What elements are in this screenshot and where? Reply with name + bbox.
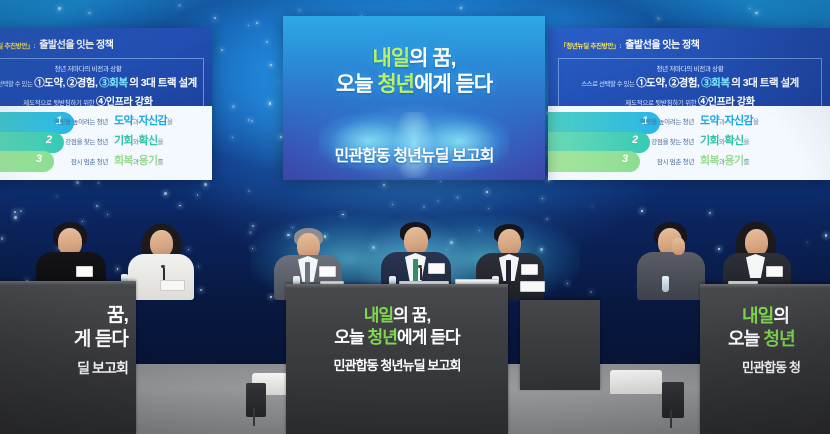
row-who: 잠시 멈춘 청년	[632, 156, 694, 166]
ribbon-num-3: 3	[36, 153, 42, 165]
star-particle	[592, 206, 593, 207]
row-gain: 도약과자신감을	[700, 112, 758, 128]
row-suffix: 을	[753, 119, 758, 126]
slide-track-3: ③회복	[99, 77, 127, 89]
star-particle	[718, 248, 720, 250]
star-particle	[749, 8, 750, 9]
star-particle	[188, 249, 189, 250]
desk-center-line2: 오늘 청년에게 듣다	[286, 328, 508, 348]
star-particle	[590, 291, 592, 293]
slide-screen-center: 내일의 꿈, 오늘 청년에게 듣다 민관합동 청년뉴딜 보고회	[283, 16, 545, 180]
desk-left-line2: 게 듣다	[0, 329, 136, 352]
slide-row: 잠시 멈춘 청년 회복과용기를	[632, 152, 826, 172]
head	[498, 229, 521, 256]
row-gain: 기회와확신을	[114, 132, 163, 148]
star-particle	[96, 205, 98, 207]
star-particle	[755, 12, 758, 15]
name-badge	[428, 263, 445, 274]
star-particle	[232, 137, 233, 138]
name-badge	[521, 264, 538, 275]
desk-right-line2-pre: 오늘	[728, 329, 763, 349]
star-particle	[299, 10, 300, 11]
star-particle	[20, 210, 22, 212]
row-suffix: 를	[157, 159, 162, 166]
star-particle	[423, 206, 425, 208]
star-particle	[658, 18, 659, 19]
row-gain-b: 용기	[724, 155, 743, 167]
torso	[637, 252, 705, 300]
desk-center-line1: 내일의 꿈,	[286, 306, 508, 326]
row-gain: 회복과용기를	[700, 152, 749, 168]
center-screen-title: 내일의 꿈, 오늘 청년에게 듣다	[283, 46, 545, 97]
slide-row: 역량을 높이려는 청년 도약과자신감을	[46, 112, 208, 132]
row-who: 잠시 멈춘 청년	[46, 156, 108, 166]
slide-rows-right: 역량을 높이려는 청년 도약과자신감을 강점을 찾는 청년 기회와확신을 잠시 …	[632, 112, 826, 172]
slide-strategy-box-left: 청년 저마다의 비전과 상황 스스로 선택할 수 있는 ①도약, ②경험, ③회…	[0, 58, 204, 113]
row-gain-a: 도약	[114, 115, 133, 127]
star-particle	[107, 214, 108, 215]
chair-folded	[246, 383, 266, 417]
row-suffix: 를	[743, 159, 748, 166]
microphone-stem	[420, 268, 422, 280]
star-particle	[460, 7, 462, 9]
name-badge	[766, 266, 783, 277]
necktie	[305, 262, 310, 284]
slide-box-line2: 스스로 선택할 수 있는 ①도약, ②경험, ③회복 의 3대 트랙 설계	[561, 75, 819, 90]
desk-panel-left: 꿈, 게 듣다 딜 보고회	[0, 281, 136, 434]
name-badge	[76, 266, 93, 277]
star-particle	[14, 216, 17, 219]
name-card	[160, 280, 185, 291]
desk-right-line1: 내일의	[700, 306, 830, 328]
star-particle	[14, 211, 16, 213]
row-suffix: 을	[157, 139, 162, 146]
star-particle	[486, 191, 487, 192]
slide-row: 강점을 찾는 청년 기회와확신을	[632, 132, 826, 152]
necktie	[413, 259, 418, 283]
water-bottle	[662, 276, 669, 292]
star-particle	[709, 212, 711, 214]
center-title-line2-rest: 에게 듣다	[414, 73, 492, 96]
slide-strategy-box-right: 청년 저마다의 비전과 상황 스스로 선택할 수 있는 ①도약, ②경험, ③회…	[558, 58, 822, 113]
star-particle	[97, 182, 99, 184]
star-particle	[88, 12, 90, 14]
slide-screen-left: 「청년뉴딜 추진방안」: 출발선을 잇는 정책 청년 저마다의 비전과 상황 스…	[0, 28, 212, 180]
head	[404, 227, 428, 255]
slide-header-left: 「청년뉴딜 추진방안」: 출발선을 잇는 정책	[0, 28, 212, 53]
star-particle	[383, 184, 384, 185]
star-particle	[58, 7, 61, 10]
slide-track-2: ②경험,	[67, 77, 98, 89]
star-particle	[270, 64, 273, 67]
slide-box-line2-post: 의 3대 트랙 설계	[129, 77, 197, 89]
row-gain-a: 회복	[114, 155, 133, 167]
slide-track-3: ③회복	[701, 77, 729, 89]
star-particle	[278, 81, 279, 82]
row-gain-a: 기회	[114, 135, 133, 147]
chair-folded	[662, 382, 684, 418]
name-card	[520, 281, 545, 292]
desk-right-line1-rest: 의	[773, 306, 789, 326]
slide-header-tag: 「청년뉴딜 추진방안」:	[0, 40, 35, 50]
row-who: 역량을 높이려는 청년	[632, 116, 694, 126]
desk-center-line1-hl: 내일	[364, 306, 393, 325]
star-particle	[256, 22, 258, 24]
row-gain-b: 확신	[724, 135, 743, 147]
star-particle	[488, 208, 489, 209]
conference-photo: 「청년뉴딜 추진방안」: 출발선을 잇는 정책 청년 저마다의 비전과 상황 스…	[0, 0, 830, 434]
slide-header-tag: 「청년뉴딜 추진방안」:	[560, 40, 621, 50]
row-gain-a: 회복	[700, 155, 719, 167]
slide-white-panel-left: 1 2 3 역량을 높이려는 청년 도약과자신감을 강점을 찾는 청년 기회와확…	[0, 106, 212, 180]
desk-left-line1: 꿈,	[0, 305, 136, 328]
row-gain-b: 자신감	[138, 115, 167, 127]
star-particle	[248, 25, 249, 26]
desk-center-line2-pre: 오늘	[334, 328, 367, 347]
slide-track-1: ①도약,	[636, 77, 667, 89]
center-title-line2: 오늘 청년에게 듣다	[283, 72, 545, 98]
desk-edge	[0, 281, 136, 285]
row-gain-b: 자신감	[724, 115, 753, 127]
star-particle	[251, 120, 253, 122]
chair	[610, 370, 662, 394]
desk-left-sub: 딜 보고회	[0, 360, 136, 377]
desk-center-sub: 민관합동 청년뉴딜 보고회	[286, 358, 508, 374]
slide-white-panel-right: 1 2 3 역량을 높이려는 청년 도약과자신감을 강점을 찾는 청년 기회와확…	[548, 106, 830, 180]
row-gain-b: 용기	[138, 155, 157, 167]
row-gain-b: 확신	[138, 135, 157, 147]
desk-right-line1-hl: 내일	[742, 306, 773, 326]
star-particle	[197, 194, 199, 196]
star-particle	[641, 210, 643, 212]
star-particle	[198, 266, 199, 267]
star-particle	[248, 119, 250, 121]
desk-left-line1-rest: 꿈,	[107, 305, 128, 326]
slide-box-line2-pre: 스스로 선택할 수 있는	[0, 81, 32, 88]
microphone-head	[418, 265, 422, 268]
star-particle	[248, 190, 250, 192]
row-suffix: 을	[743, 139, 748, 146]
desk-center-line2-hl: 청년	[368, 328, 397, 347]
star-particle	[807, 242, 808, 243]
star-particle	[221, 49, 223, 51]
ribbon-num-3: 3	[622, 153, 628, 165]
row-gain: 기회와확신을	[700, 132, 749, 148]
slide-header-title: 출발선을 잇는 정책	[625, 36, 699, 51]
slide-header-right: 「청년뉴딜 추진방안」: 출발선을 잇는 정책	[548, 28, 830, 53]
row-gain: 회복과용기를	[114, 152, 163, 168]
star-particle	[266, 41, 268, 43]
slide-row: 역량을 높이려는 청년 도약과자신감을	[632, 112, 826, 132]
star-particle	[214, 17, 216, 19]
row-gain-a: 도약	[700, 115, 719, 127]
name-badge	[319, 266, 336, 277]
star-particle	[392, 204, 393, 205]
center-title-line1-rest: 의 꿈,	[409, 47, 455, 70]
row-who: 강점을 찾는 청년	[46, 136, 108, 146]
slide-box-line2: 스스로 선택할 수 있는 ①도약, ②경험, ③회복 의 3대 트랙 설계	[0, 75, 201, 90]
chair-leg	[670, 410, 672, 428]
center-title-line2-hl: 청년	[377, 73, 414, 96]
head	[745, 229, 768, 256]
slide-track-2: ②경험,	[669, 77, 700, 89]
desk-panel-right: 내일의 오늘 청년 민관합동 청	[700, 284, 830, 434]
slide-box-line1: 청년 저마다의 비전과 상황	[561, 63, 819, 73]
row-who: 역량을 높이려는 청년	[46, 116, 108, 126]
desk-right-sub: 민관합동 청	[700, 360, 830, 376]
star-particle	[56, 196, 57, 197]
slide-header-title: 출발선을 잇는 정책	[39, 36, 113, 51]
center-title-line2-pre: 오늘	[336, 73, 377, 96]
row-who: 강점을 찾는 청년	[632, 136, 694, 146]
slide-row: 잠시 멈춘 청년 회복과용기를	[46, 152, 208, 172]
slide-box-line2-pre: 스스로 선택할 수 있는	[581, 81, 634, 88]
star-particle	[178, 4, 180, 6]
star-particle	[437, 200, 439, 202]
star-particle	[179, 205, 180, 206]
necktie	[506, 260, 511, 283]
desk-panel-sliver	[520, 300, 600, 390]
microphone-stem	[163, 268, 165, 280]
desk-panel-center: 내일의 꿈, 오늘 청년에게 듣다 민관합동 청년뉴딜 보고회	[286, 284, 508, 434]
star-particle	[164, 192, 167, 195]
head	[150, 230, 173, 257]
torso	[128, 254, 194, 300]
desk-edge	[286, 284, 508, 288]
slide-rows-left: 역량을 높이려는 청년 도약과자신감을 강점을 찾는 청년 기회와확신을 잠시 …	[46, 112, 208, 172]
star-particle	[82, 221, 83, 222]
desk-right-line2: 오늘 청년	[700, 329, 830, 351]
hand	[672, 238, 685, 255]
star-particle	[269, 102, 272, 105]
star-particle	[200, 289, 202, 291]
row-gain-a: 기회	[700, 135, 719, 147]
row-gain: 도약과자신감을	[114, 112, 172, 128]
slide-box-line1: 청년 저마다의 비전과 상황	[0, 63, 201, 73]
desk-center-line1-rest: 의 꿈,	[393, 306, 430, 325]
desk-edge	[700, 284, 830, 288]
center-title-line1: 내일의 꿈,	[283, 46, 545, 72]
slide-screen-right: 「청년뉴딜 추진방안」: 출발선을 잇는 정책 청년 저마다의 비전과 상황 스…	[548, 28, 830, 180]
star-particle	[280, 136, 282, 138]
star-particle	[76, 181, 79, 184]
center-title-line1-hl: 내일	[373, 47, 410, 70]
star-particle	[204, 183, 207, 186]
star-particle	[1, 237, 4, 240]
star-particle	[825, 234, 828, 237]
desk-left-line2-rest: 게 듣다	[74, 329, 128, 350]
microphone-head	[161, 265, 165, 268]
star-particle	[542, 198, 543, 199]
star-particle	[440, 181, 441, 182]
center-screen-subtitle: 민관합동 청년뉴딜 보고회	[283, 142, 545, 166]
row-suffix: 을	[167, 119, 172, 126]
slide-track-1: ①도약,	[34, 77, 65, 89]
star-particle	[232, 105, 235, 108]
slide-box-line2-post: 의 3대 트랙 설계	[731, 77, 799, 89]
desk-center-line2-rest: 에게 듣다	[397, 328, 460, 347]
desk-right-line2-hl: 청년	[763, 329, 794, 349]
chair-leg	[253, 408, 255, 426]
star-particle	[457, 197, 458, 198]
slide-row: 강점을 찾는 청년 기회와확신을	[46, 132, 208, 152]
star-particle	[117, 268, 118, 269]
